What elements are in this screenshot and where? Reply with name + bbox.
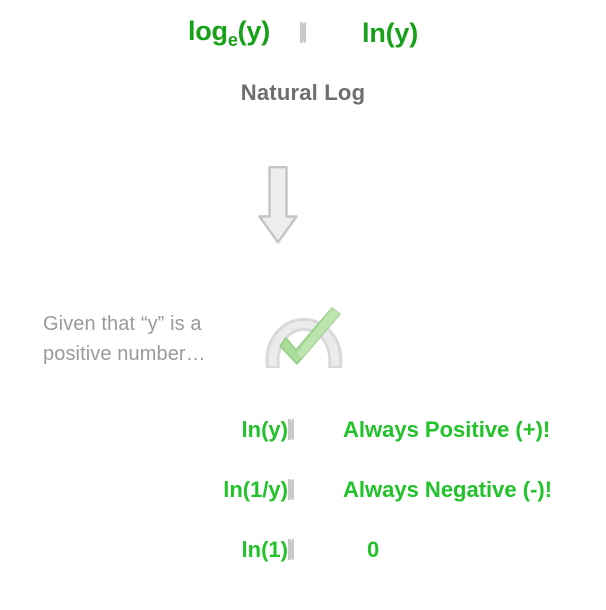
equals-bar-bottom [300,22,306,43]
log-subscript-e: e [228,30,238,50]
equals-bar-bottom [288,479,294,500]
down-arrow-icon [258,166,298,244]
result-row: ln(1) 0 [0,535,606,565]
result-lhs: ln(1/y) [0,477,288,503]
premise-block: Given that “y” is a positive number… [43,306,363,372]
check-mark-glyph [256,306,352,372]
log-argument: (y) [238,16,270,46]
check-mark-icon [256,306,352,372]
result-rhs: Always Positive (+)! [318,417,606,443]
equals-bar-bottom [288,419,294,440]
result-rhs: 0 [318,537,606,563]
ln-expression: ln(y) [362,18,418,49]
down-arrow-glyph [258,166,298,244]
result-rhs: Always Negative (-)! [318,477,606,503]
page-title: Natural Log [0,80,606,106]
result-lhs: ln(y) [0,417,288,443]
result-lhs: ln(1) [0,537,288,563]
premise-text: Given that “y” is a positive number… [43,309,248,369]
identity-row: loge(y) ln(y) [0,16,606,51]
log-base-e-expression: loge(y) [188,16,270,51]
log-base-label: log [188,16,228,46]
equals-bar-bottom [288,539,294,560]
result-row: ln(1/y) Always Negative (-)! [0,475,606,505]
result-row: ln(y) Always Positive (+)! [0,415,606,445]
